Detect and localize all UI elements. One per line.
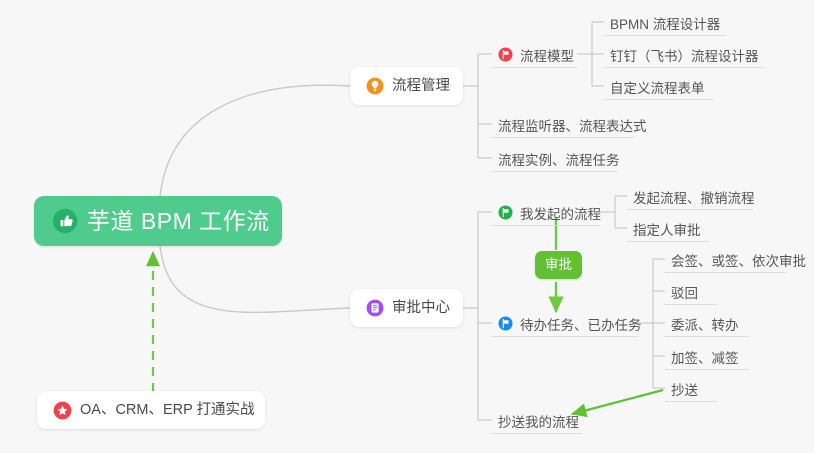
node-dingtalk-feishu-designer[interactable]: 钉钉（飞书）流程设计器 bbox=[604, 42, 764, 68]
footer-node-label: OA、CRM、ERP 打通实战 bbox=[80, 403, 255, 418]
node-countersign-orsign-sequential[interactable]: 会签、或签、依次审批 bbox=[665, 247, 787, 273]
connector-root-to-process-management bbox=[160, 85, 350, 196]
node-label-todo-done-task: 待办任务、已办任务 bbox=[520, 319, 642, 333]
node-label-cc-to-me-process: 抄送我的流程 bbox=[498, 416, 579, 430]
lightbulb-icon bbox=[366, 77, 384, 95]
node-cc-to-me-process[interactable]: 抄送我的流程 bbox=[492, 408, 582, 434]
branch-label-approval-center: 审批中心 bbox=[392, 301, 450, 316]
node-label-process-listener-expression: 流程监听器、流程表达式 bbox=[498, 120, 647, 134]
node-label-add-remove-sign: 加签、减签 bbox=[671, 352, 739, 366]
node-label-dingtalk-feishu-designer: 钉钉（飞书）流程设计器 bbox=[610, 50, 759, 64]
approval-badge-label: 审批 bbox=[545, 258, 572, 272]
branch-node-approval-center[interactable]: 审批中心 bbox=[350, 289, 463, 327]
node-bpmn-designer[interactable]: BPMN 流程设计器 bbox=[604, 10, 726, 36]
node-reject[interactable]: 驳回 bbox=[665, 279, 717, 305]
arrow-cc-to-cc-my-process bbox=[572, 390, 663, 414]
node-label-process-instance-task: 流程实例、流程任务 bbox=[498, 154, 620, 168]
node-label-custom-process-form: 自定义流程表单 bbox=[610, 82, 705, 96]
node-assignee-approval[interactable]: 指定人审批 bbox=[627, 216, 709, 242]
node-add-remove-sign[interactable]: 加签、减签 bbox=[665, 344, 749, 370]
node-label-countersign-orsign-sequential: 会签、或签、依次审批 bbox=[671, 255, 806, 269]
node-label-carbon-copy: 抄送 bbox=[671, 384, 698, 398]
node-custom-process-form[interactable]: 自定义流程表单 bbox=[604, 74, 714, 100]
footer-node-oa-crm-erp[interactable]: OA、CRM、ERP 打通实战 bbox=[37, 391, 265, 429]
root-node-label: 芋道 BPM 工作流 bbox=[87, 210, 270, 233]
mindmap-canvas: 芋道 BPM 工作流 流程管理 流程模型 BPMN 流程设计器 钉钉（飞书）流程 bbox=[0, 0, 814, 453]
thumbs-up-icon bbox=[52, 208, 78, 234]
node-process-instance-task[interactable]: 流程实例、流程任务 bbox=[492, 146, 618, 172]
node-label-delegate-transfer: 委派、转办 bbox=[671, 319, 739, 333]
node-carbon-copy[interactable]: 抄送 bbox=[665, 376, 717, 402]
branch-label-process-management: 流程管理 bbox=[392, 79, 450, 94]
flag-icon bbox=[498, 316, 513, 331]
node-process-model[interactable]: 流程模型 bbox=[492, 42, 577, 68]
node-label-bpmn-designer: BPMN 流程设计器 bbox=[610, 18, 720, 32]
branch-node-process-management[interactable]: 流程管理 bbox=[350, 67, 463, 105]
root-node[interactable]: 芋道 BPM 工作流 bbox=[34, 196, 282, 246]
node-label-assignee-approval: 指定人审批 bbox=[633, 224, 701, 238]
star-icon bbox=[53, 401, 72, 420]
node-my-initiated-process[interactable]: 我发起的流程 bbox=[492, 200, 600, 226]
clipboard-icon bbox=[366, 299, 384, 317]
flag-icon bbox=[498, 205, 513, 220]
flag-icon bbox=[498, 47, 513, 62]
node-todo-done-task[interactable]: 待办任务、已办任务 bbox=[492, 311, 638, 337]
node-delegate-transfer[interactable]: 委派、转办 bbox=[665, 311, 749, 337]
node-label-process-model: 流程模型 bbox=[520, 50, 574, 64]
node-start-cancel-process[interactable]: 发起流程、撤销流程 bbox=[627, 184, 753, 210]
approval-badge[interactable]: 审批 bbox=[535, 251, 582, 279]
node-label-reject: 驳回 bbox=[671, 287, 698, 301]
connector-root-to-approval-center bbox=[160, 246, 350, 312]
node-process-listener-expression[interactable]: 流程监听器、流程表达式 bbox=[492, 112, 634, 138]
node-label-start-cancel-process: 发起流程、撤销流程 bbox=[633, 192, 755, 206]
node-label-my-initiated-process: 我发起的流程 bbox=[520, 208, 601, 222]
